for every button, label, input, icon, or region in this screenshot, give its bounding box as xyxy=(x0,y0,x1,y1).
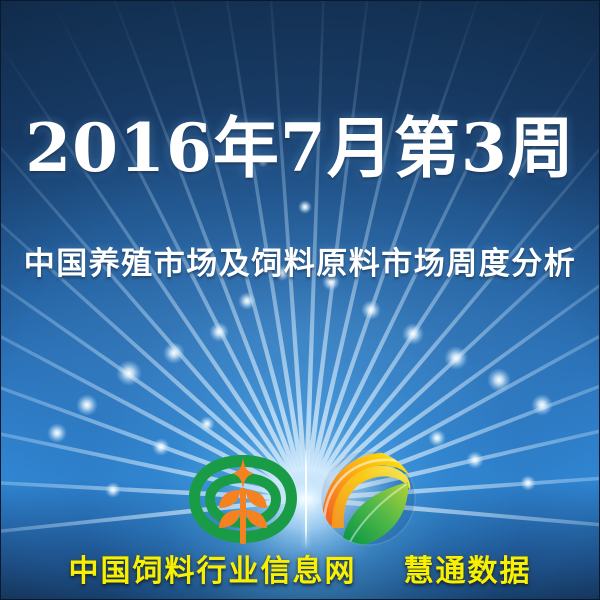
footer-organization: 中国饲料行业信息网 xyxy=(69,554,357,589)
logo-divider xyxy=(305,450,307,548)
footer-data-provider: 慧通数据 xyxy=(403,554,531,589)
footer-credits: 中国饲料行业信息网 慧通数据 xyxy=(1,553,599,591)
china-feed-industry-logo xyxy=(183,446,303,550)
page-subtitle: 中国养殖市场及饲料原料市场周度分析 xyxy=(1,244,599,284)
huitong-data-logo xyxy=(312,448,424,548)
poster-canvas: 2016年7月第3周 中国养殖市场及饲料原料市场周度分析 xyxy=(0,0,600,600)
page-title: 2016年7月第3周 xyxy=(1,109,599,187)
